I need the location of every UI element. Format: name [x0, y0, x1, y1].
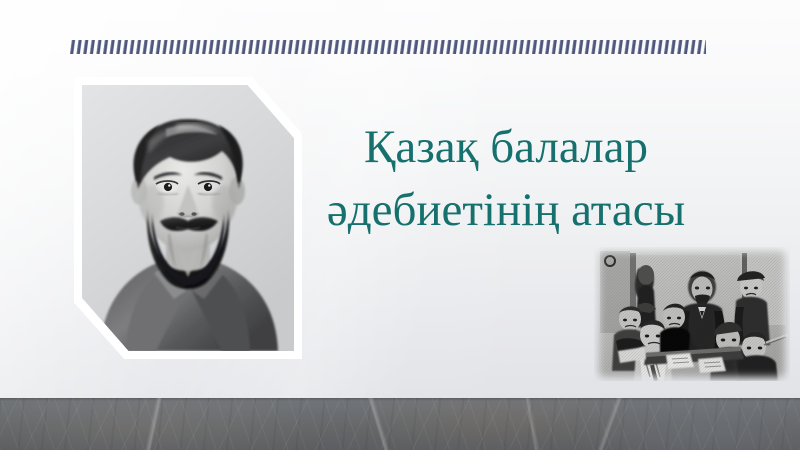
floor-band	[0, 398, 800, 450]
portrait-image	[82, 85, 294, 351]
hatched-divider-rule	[70, 40, 706, 54]
classroom-engraving	[594, 247, 790, 381]
presentation-slide: Қазақ балалар әдебиетінің атасы	[0, 0, 800, 450]
classroom-engraving-image	[594, 247, 790, 381]
slide-title: Қазақ балалар әдебиетінің атасы	[316, 116, 696, 242]
hatched-divider-icon	[70, 40, 706, 54]
portrait-photo	[82, 85, 294, 351]
portrait-frame	[74, 77, 302, 359]
floor-scratches	[0, 398, 800, 450]
